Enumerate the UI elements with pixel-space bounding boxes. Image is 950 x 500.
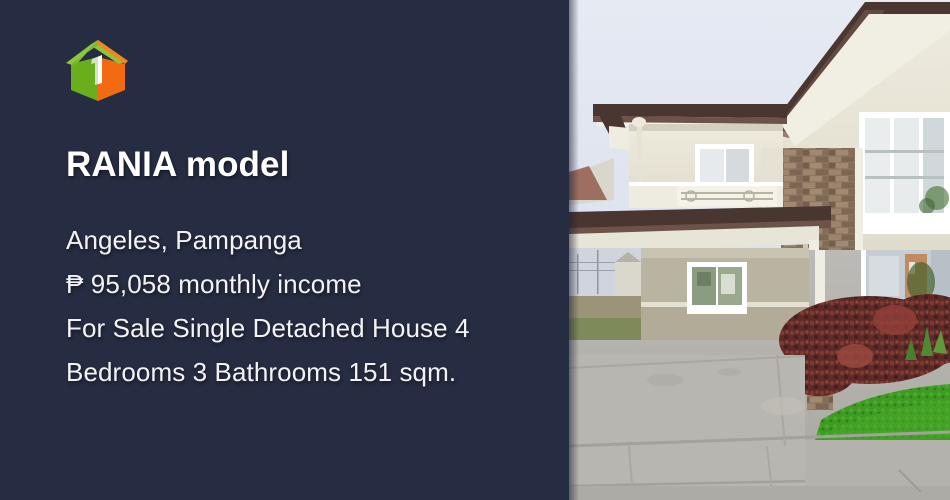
- info-panel: RANIA model Angeles, Pampanga ₱ 95,058 m…: [0, 0, 569, 500]
- listing-monthly-income: ₱ 95,058 monthly income: [66, 262, 546, 306]
- listing-location: Angeles, Pampanga: [66, 218, 546, 262]
- house-one-logo-icon: [62, 33, 134, 105]
- page-title: RANIA model: [66, 146, 289, 185]
- house-exterior-illustration: [569, 0, 950, 500]
- listing-description: For Sale Single Detached House 4 Bedroom…: [66, 306, 546, 394]
- property-listing-card: RANIA model Angeles, Pampanga ₱ 95,058 m…: [0, 0, 950, 500]
- property-photo: [569, 0, 950, 500]
- listing-details: Angeles, Pampanga ₱ 95,058 monthly incom…: [66, 218, 546, 394]
